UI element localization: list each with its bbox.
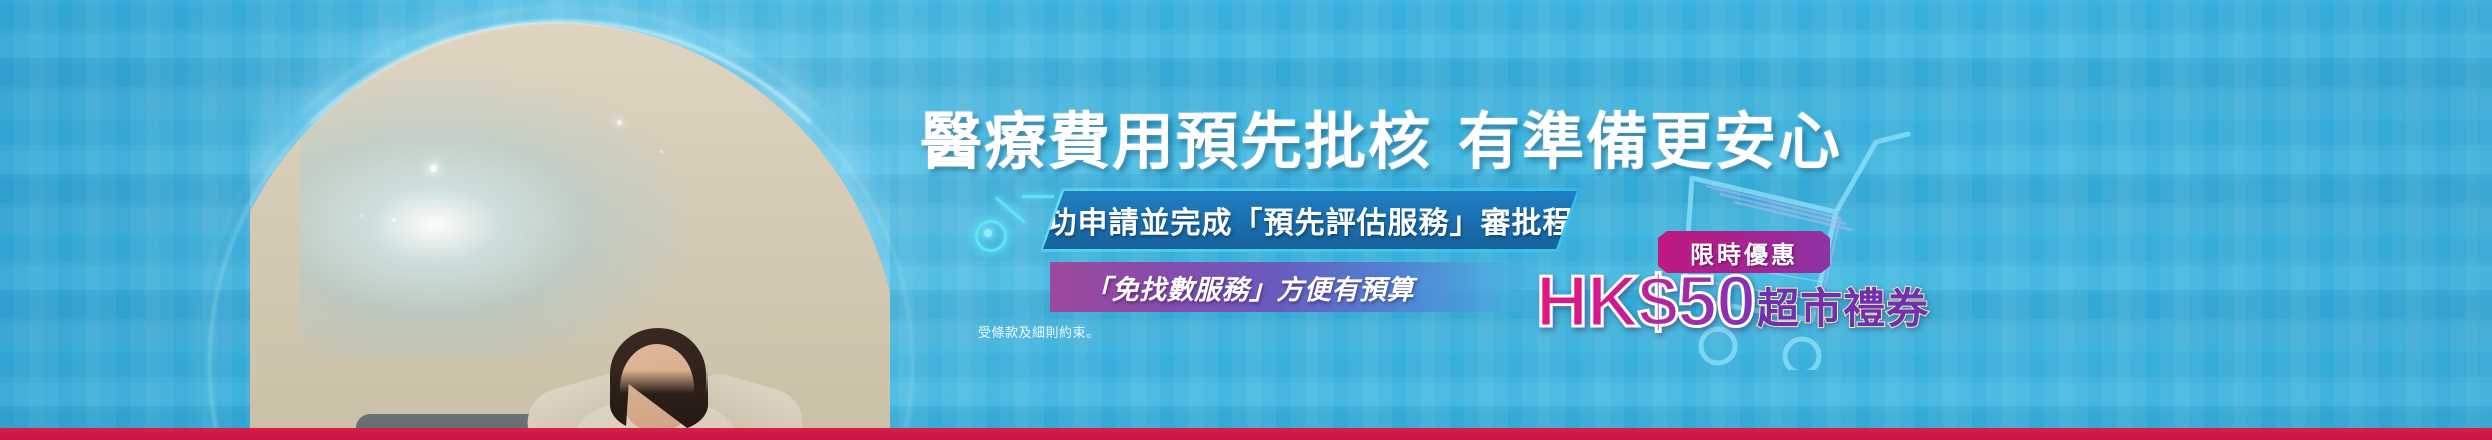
connector-node-dot xyxy=(984,229,992,237)
subtitle-secondary-text: 「免找數服務」方便有預算 xyxy=(1050,268,1414,307)
headline-part-2: 有準備更安心 xyxy=(1458,108,1842,177)
hero-photo xyxy=(250,0,890,430)
sparkle-icon xyxy=(430,165,437,172)
page-title: 醫療費用預先批核有準備更安心 xyxy=(920,112,1842,174)
terms-fineprint: 受條款及細則約束。 xyxy=(978,322,1100,341)
sparkle-icon xyxy=(617,120,622,125)
offer-amount-block: HK$50 超市禮券 xyxy=(1536,268,1929,336)
photo-arc-mask xyxy=(250,22,890,430)
connector-node-icon xyxy=(975,220,1007,252)
person-figure xyxy=(510,308,810,430)
subtitle-banner-primary: 成功申請並完成「預先評估服務」審批程序 xyxy=(1043,191,1577,249)
offer-amount: HK$50 xyxy=(1536,268,1755,336)
promo-banner: 醫療費用預先批核有準備更安心 成功申請並完成「預先評估服務」審批程序 「免找數服… xyxy=(0,0,2492,440)
subtitle-banner-secondary: 「免找數服務」方便有預算 xyxy=(1050,262,1570,312)
headline-part-1: 醫療費用預先批核 xyxy=(920,108,1432,177)
subtitle-primary-text: 成功申請並完成「預先評估服務」審批程序 xyxy=(1016,198,1605,242)
bottom-accent-bar xyxy=(0,428,2492,440)
connector-line-horizontal xyxy=(1022,195,1054,198)
sparkle-icon xyxy=(360,214,363,217)
sparkle-icon xyxy=(660,150,663,153)
offer-suffix: 超市禮券 xyxy=(1757,288,1929,330)
sparkle-icon xyxy=(392,218,396,222)
